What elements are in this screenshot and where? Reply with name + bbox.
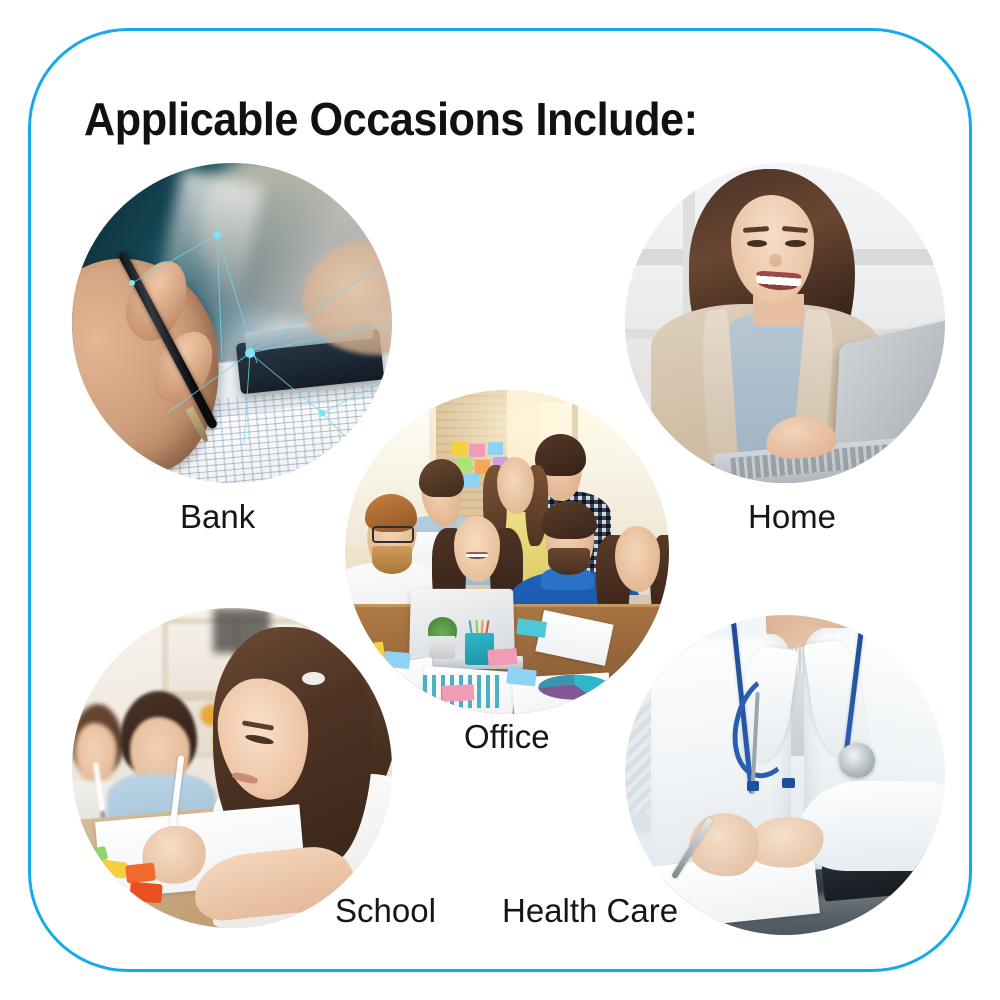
occasion-label-school: School <box>335 892 436 930</box>
bank-network-overlay <box>72 163 392 483</box>
bank-scene <box>72 163 392 483</box>
occasion-label-bank: Bank <box>180 498 255 536</box>
occasion-image-bank <box>72 163 392 483</box>
school-foam-letter <box>100 859 128 878</box>
page-title: Applicable Occasions Include: <box>84 92 698 146</box>
office-scene <box>345 390 669 714</box>
occasion-label-health-care: Health Care <box>502 892 678 930</box>
doctor-arm-right <box>798 781 945 871</box>
office-sticky-note <box>506 667 537 686</box>
office-plant-pot <box>429 636 455 659</box>
occasion-image-office <box>345 390 669 714</box>
occasion-label-office: Office <box>464 718 550 756</box>
poster-canvas: Applicable Occasions Include: <box>0 0 1000 1000</box>
home-eye-right <box>785 240 806 247</box>
school-foam-letter <box>129 882 163 904</box>
occasion-image-school <box>72 608 392 928</box>
health-care-scene <box>625 615 945 935</box>
stethoscope-clip <box>782 778 795 788</box>
occasion-label-home: Home <box>748 498 836 536</box>
home-nose <box>769 254 782 267</box>
school-scene <box>72 608 392 928</box>
occasion-image-home <box>625 163 945 483</box>
home-scene <box>625 163 945 483</box>
office-sticky-note <box>487 648 517 666</box>
home-eye-left <box>747 240 768 247</box>
stethoscope-chestpiece <box>839 743 874 778</box>
school-foam-letter <box>126 863 156 884</box>
school-hair-tie <box>302 672 324 685</box>
occasion-image-health-care <box>625 615 945 935</box>
stethoscope-clip <box>747 781 760 791</box>
office-sticky-note <box>442 684 475 702</box>
